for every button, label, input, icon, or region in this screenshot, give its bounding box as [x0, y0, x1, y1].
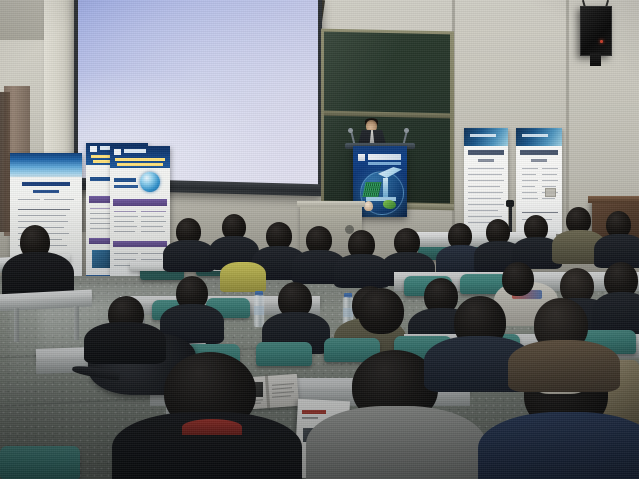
rollup-text-line [141, 221, 166, 222]
poster-text-line [542, 174, 557, 175]
wall-poster-1-header [464, 128, 508, 146]
poster-text-line [468, 180, 504, 181]
podium-city-skyline-icon [362, 182, 381, 197]
podium-leaf-icon [383, 200, 396, 209]
podium-person-icon [364, 201, 373, 211]
rollup-banner-3-title [114, 178, 136, 182]
poster-text-line [522, 186, 535, 187]
rollup-text-line [90, 213, 112, 214]
poster-text-line [522, 212, 558, 213]
chair-back [0, 446, 80, 479]
poster-text-line [522, 192, 537, 193]
rollup-text-line [114, 211, 136, 212]
wall-poster-2-header [516, 128, 562, 146]
poster-mic-head [506, 200, 514, 207]
poster-text-line [542, 168, 558, 169]
wall-poster-2-header-text [522, 134, 548, 137]
wooden-furniture-top [588, 196, 639, 203]
desk-leg [14, 308, 19, 342]
microphone-head [404, 128, 409, 133]
rollup-text-line [18, 199, 40, 200]
rollup-text-line [114, 216, 138, 217]
speaker-bracket [590, 53, 601, 66]
cabinet-top [297, 201, 365, 207]
poster-text-line [542, 198, 555, 199]
student-yellow-jacket [220, 262, 266, 292]
poster-text-line [468, 198, 501, 199]
rollup-text-line [141, 253, 165, 254]
rollup-text-line [141, 216, 164, 217]
rollup-text-line [114, 253, 138, 254]
rollup-text-line [44, 199, 74, 200]
student-head [502, 262, 534, 296]
poster-text-line [542, 180, 558, 181]
poster-text-line [522, 180, 538, 181]
rollup-text-line [18, 209, 70, 210]
wall-poster-2-subtitle [531, 159, 547, 162]
rollup-text-line [18, 215, 66, 216]
chair-back [256, 342, 312, 366]
speaker-power-led [600, 40, 603, 43]
rollup-text-line [141, 259, 162, 260]
lecture-hall-photo: blank blue-lavender illuminated blank [0, 0, 639, 479]
poster-text-line [522, 198, 538, 199]
rollup-text-line [114, 231, 135, 232]
wall-outlet [545, 188, 556, 197]
rollup-text-line [90, 223, 110, 224]
rollup-text-line [141, 226, 163, 227]
student-shoulders [508, 340, 620, 392]
brochure-subtitle [302, 417, 318, 419]
poster-text-line [468, 210, 498, 211]
wall-poster-1-subtitle [478, 159, 494, 162]
microphone-head [348, 128, 353, 133]
water-bottle-left-label [254, 306, 264, 315]
door-panel [0, 92, 10, 232]
rollup-banner-1-title [22, 182, 70, 186]
rollup-text-line [114, 221, 134, 222]
rollup-banner-3-logo [114, 149, 121, 155]
rollup-banner-3-tagline [117, 163, 163, 166]
wall-speaker [580, 6, 612, 56]
rollup-text-line [141, 211, 166, 212]
wall-seam [566, 0, 569, 240]
brochure-title [302, 410, 326, 414]
rollup-text-line [114, 226, 137, 227]
rollup-text-line [18, 221, 68, 222]
poster-text-line [468, 168, 504, 169]
poster-text-line [522, 168, 538, 169]
rollup-banner-3-section-band [113, 199, 167, 206]
rollup-banner-3-section-band [113, 241, 167, 247]
red-collar [182, 419, 242, 435]
rollup-banner-3-tagline [115, 158, 165, 161]
poster-text-line [522, 174, 536, 175]
poster-text-line [468, 192, 503, 193]
rollup-banner-3-logo-text [124, 149, 146, 153]
poster-text-line [468, 204, 504, 205]
rollup-text-line [141, 231, 165, 232]
student-shoulders [478, 412, 639, 479]
wall-poster-1-title [468, 150, 504, 155]
rollup-banner-3-title [114, 185, 138, 188]
rollup-text-line [114, 259, 136, 260]
wall-poster-2-title [520, 150, 558, 155]
rollup-banner-2-logo [90, 146, 97, 152]
student-shoulders [306, 406, 486, 479]
poster-text-line [468, 216, 502, 217]
rollup-banner-1-subtitle [33, 190, 59, 193]
poster-text-line [542, 186, 556, 187]
podium-logo-text [368, 154, 401, 160]
podium-tower-icon [383, 178, 388, 197]
student-shoulders [163, 240, 215, 272]
poster-text-line [468, 186, 500, 187]
podium-subtitle-text [368, 162, 401, 165]
student-shoulders [84, 322, 166, 364]
rollup-banner-3-globe-icon [140, 172, 160, 192]
poster-text-line [468, 174, 502, 175]
podium-logo-icon [358, 154, 365, 161]
student-head [358, 288, 404, 334]
wall-poster-1-header-text [470, 134, 496, 137]
desk-leg [74, 306, 79, 340]
rollup-banner-1-header [10, 153, 82, 177]
